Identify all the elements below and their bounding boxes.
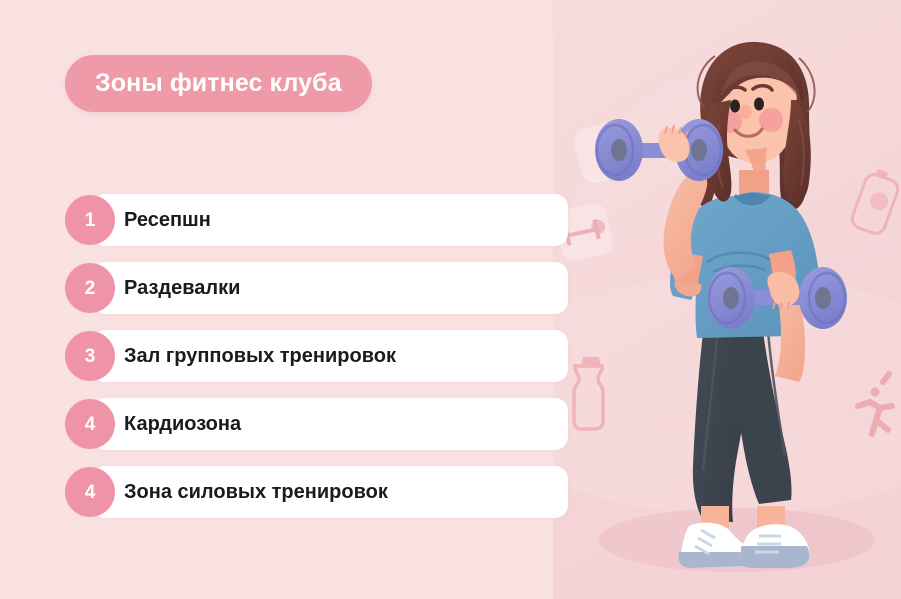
zone-number-badge: 4 — [65, 399, 115, 449]
zone-number: 2 — [85, 279, 96, 298]
zone-number-badge: 1 — [65, 195, 115, 245]
zone-label: Кардиозона — [124, 398, 241, 450]
zone-list: 1 Ресепшн 2 Раздевалки 3 Зал групповых т… — [65, 194, 568, 518]
zone-number-badge: 3 — [65, 331, 115, 381]
zone-number-badge: 2 — [65, 263, 115, 313]
zone-number: 4 — [85, 415, 96, 434]
eye-right — [754, 98, 764, 111]
zone-label: Раздевалки — [124, 262, 240, 314]
page-title-pill: Зоны фитнес клуба — [65, 55, 372, 112]
zone-label: Ресепшн — [124, 194, 211, 246]
list-item[interactable]: 4 Кардиозона — [65, 398, 568, 450]
zone-number: 4 — [85, 483, 96, 502]
zone-label: Зал групповых тренировок — [124, 330, 396, 382]
poster-canvas: Зоны фитнес клуба 1 Ресепшн 2 Раздевалки… — [0, 0, 901, 599]
list-item[interactable]: 2 Раздевалки — [65, 262, 568, 314]
woman-lifting-dumbbells-illustration — [553, 0, 901, 599]
zone-number: 3 — [85, 347, 96, 366]
eye-left — [730, 100, 740, 113]
list-item[interactable]: 3 Зал групповых тренировок — [65, 330, 568, 382]
page-title: Зоны фитнес клуба — [95, 69, 342, 98]
list-item[interactable]: 1 Ресепшн — [65, 194, 568, 246]
zone-label: Зона силовых тренировок — [124, 466, 388, 518]
list-item[interactable]: 4 Зона силовых тренировок — [65, 466, 568, 518]
zone-number: 1 — [85, 211, 96, 230]
illustration-panel — [553, 0, 901, 599]
zone-number-badge: 4 — [65, 467, 115, 517]
